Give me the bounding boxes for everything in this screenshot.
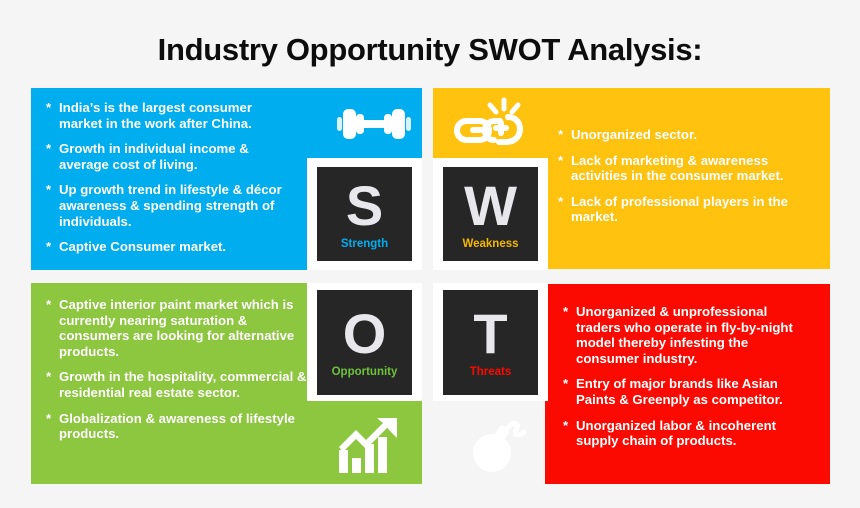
opportunities-bullet-list: *Captive interior paint market which is … xyxy=(46,297,308,442)
bullet-marker: * xyxy=(46,239,51,255)
bullet-text: Captive Consumer market. xyxy=(59,239,226,254)
bullet-marker: * xyxy=(563,376,568,392)
broken-chain-icon xyxy=(452,96,530,150)
tile-caption: Strength xyxy=(341,238,388,250)
bullet-text: Growth in the hospitality, commercial & … xyxy=(59,369,306,400)
tile-caption: Opportunity xyxy=(332,366,398,378)
bullet-marker: * xyxy=(46,141,51,157)
threats-bullet-list: *Unorganized & unprofessional traders wh… xyxy=(563,304,813,449)
bullet-marker: * xyxy=(46,411,51,427)
list-item: *Up growth trend in lifestyle & décor aw… xyxy=(46,182,286,229)
list-item: *Globalization & awareness of lifestyle … xyxy=(46,411,308,442)
bullet-marker: * xyxy=(46,100,51,116)
bullet-text: Unorganized & unprofessional traders who… xyxy=(576,304,793,366)
tile-letter: T xyxy=(473,306,507,362)
tile-frame-threats: T Threats xyxy=(433,283,548,401)
list-item: *Entry of major brands like Asian Paints… xyxy=(563,376,813,407)
list-item: *Unorganized & unprofessional traders wh… xyxy=(563,304,813,366)
letter-tile-threats: T Threats xyxy=(443,290,538,395)
letter-tile-opportunity: O Opportunity xyxy=(317,290,412,395)
dumbbell-icon xyxy=(333,100,415,148)
tile-letter: O xyxy=(343,306,387,362)
tile-caption: Weakness xyxy=(462,238,518,250)
bullet-text: India’s is the largest consumer market i… xyxy=(59,100,252,131)
tile-frame-opportunity: O Opportunity xyxy=(307,283,422,401)
letter-tile-weakness: W Weakness xyxy=(443,167,538,261)
bullet-marker: * xyxy=(46,369,51,385)
bullet-text: Unorganized labor & incoherent supply ch… xyxy=(576,418,776,449)
letter-tile-strength: S Strength xyxy=(317,167,412,261)
bullet-marker: * xyxy=(563,304,568,320)
bullet-text: Entry of major brands like Asian Paints … xyxy=(576,376,783,407)
bullet-marker: * xyxy=(558,153,563,169)
list-item: *Lack of marketing & awareness activitie… xyxy=(558,153,823,184)
list-item: *Unorganized labor & incoherent supply c… xyxy=(563,418,813,449)
bullet-text: Up growth trend in lifestyle & décor awa… xyxy=(59,182,282,228)
list-item: *India’s is the largest consumer market … xyxy=(46,100,286,131)
tile-letter: W xyxy=(464,178,517,234)
bullet-text: Globalization & awareness of lifestyle p… xyxy=(59,411,295,442)
quadrant-threats: *Unorganized & unprofessional traders wh… xyxy=(545,284,830,484)
bullet-text: Lack of marketing & awareness activities… xyxy=(571,153,784,184)
list-item: *Growth in the hospitality, commercial &… xyxy=(46,369,308,400)
tile-frame-strength: S Strength xyxy=(307,158,422,270)
tile-caption: Threats xyxy=(470,366,512,378)
growth-chart-icon xyxy=(337,417,399,475)
bullet-text: Captive interior paint market which is c… xyxy=(59,297,294,359)
tile-letter: S xyxy=(346,178,383,234)
list-item: *Growth in individual income & average c… xyxy=(46,141,286,172)
list-item: *Captive interior paint market which is … xyxy=(46,297,308,359)
bullet-marker: * xyxy=(563,418,568,434)
weaknesses-bullet-list: *Unorganized sector. *Lack of marketing … xyxy=(558,127,823,225)
bullet-marker: * xyxy=(46,182,51,198)
bullet-text: Growth in individual income & average co… xyxy=(59,141,249,172)
bullet-marker: * xyxy=(46,297,51,313)
strengths-bullet-list: *India’s is the largest consumer market … xyxy=(46,100,286,255)
bullet-text: Unorganized sector. xyxy=(571,127,697,142)
list-item: *Lack of professional players in the mar… xyxy=(558,194,823,225)
bullet-marker: * xyxy=(558,194,563,210)
list-item: *Captive Consumer market. xyxy=(46,239,286,255)
bullet-text: Lack of professional players in the mark… xyxy=(571,194,788,225)
list-item: *Unorganized sector. xyxy=(558,127,823,143)
page-title: Industry Opportunity SWOT Analysis: xyxy=(0,32,860,68)
bullet-marker: * xyxy=(558,127,563,143)
bomb-icon xyxy=(466,414,528,474)
tile-frame-weakness: W Weakness xyxy=(433,158,548,270)
